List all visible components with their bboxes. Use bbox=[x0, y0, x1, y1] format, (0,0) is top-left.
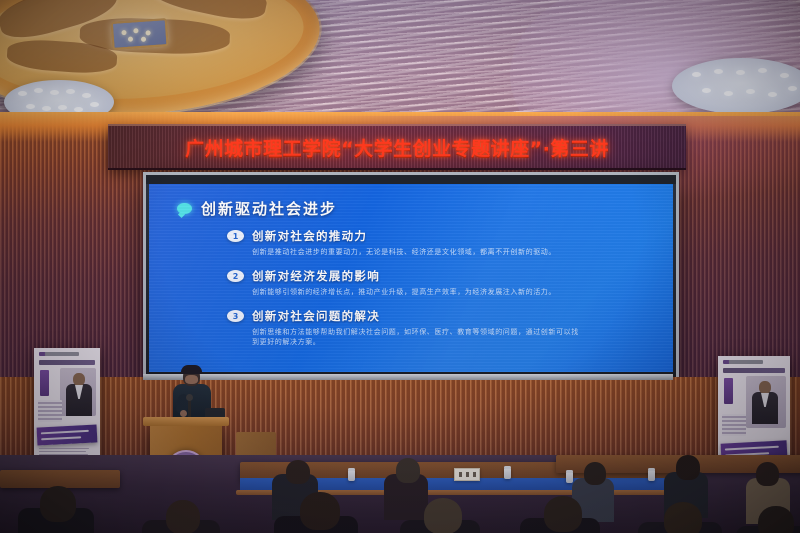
oval-led-light-panel-right bbox=[672, 58, 800, 114]
poster-logo bbox=[39, 352, 79, 356]
projection-screen-frame: 创新驱动社会进步 1 创新对社会的推动力 创新是推动社会进步的重要动力，无论是科… bbox=[143, 172, 679, 383]
podium-top bbox=[143, 417, 229, 426]
lecture-hall-photo: 广州城市理工学院“大学生创业专题讲座”·第三讲 创新驱动社会进步 1 创新对社会… bbox=[0, 0, 800, 533]
lecturer-cap bbox=[181, 365, 202, 374]
tea-cup bbox=[566, 472, 573, 483]
name-placard bbox=[454, 468, 480, 481]
tea-cup bbox=[504, 468, 511, 479]
poster-headline bbox=[39, 360, 95, 365]
poster-highlight-banner bbox=[37, 424, 98, 445]
poster-portrait-head bbox=[73, 373, 85, 386]
poster-logo bbox=[723, 360, 763, 364]
tea-cup bbox=[648, 470, 655, 481]
poster-portrait bbox=[60, 368, 96, 416]
poster-speaker-name bbox=[724, 378, 733, 404]
screen-bezel-top bbox=[146, 175, 676, 184]
presentation-slide: 创新驱动社会进步 1 创新对社会的推动力 创新是推动社会进步的重要动力，无论是科… bbox=[149, 184, 673, 372]
poster-portrait-head bbox=[759, 381, 771, 394]
poster-portrait bbox=[746, 376, 786, 428]
poster-books-graphic bbox=[722, 414, 746, 436]
screen-under-trim bbox=[143, 374, 673, 380]
poster-books-graphic bbox=[38, 400, 62, 422]
screen-scanlines bbox=[149, 184, 673, 372]
lecturer-face bbox=[185, 375, 198, 384]
lecturer-hand bbox=[180, 410, 187, 417]
poster-speaker-name bbox=[40, 370, 49, 396]
stage-wall-slats bbox=[0, 377, 800, 467]
ceiling bbox=[0, 0, 800, 128]
tea-cup bbox=[348, 470, 355, 481]
led-banner: 广州城市理工学院“大学生创业专题讲座”·第三讲 bbox=[108, 124, 686, 170]
banner-title-text: 广州城市理工学院“大学生创业专题讲座”·第三讲 bbox=[185, 134, 609, 161]
stage-wall bbox=[0, 377, 800, 467]
poster-headline bbox=[723, 368, 785, 373]
